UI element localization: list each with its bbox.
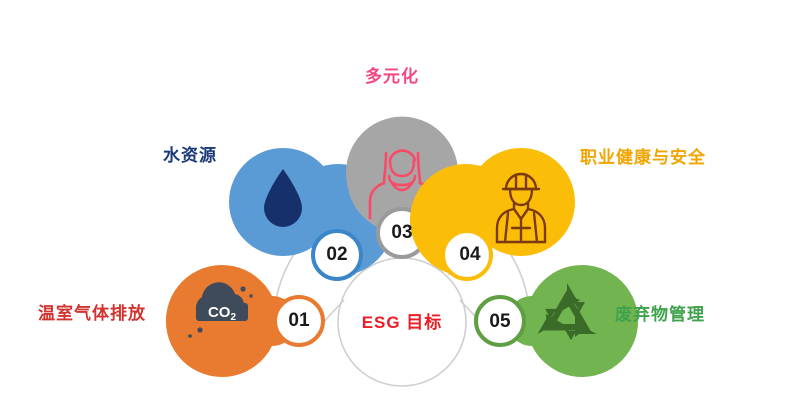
badge-02-number: 02 — [310, 244, 364, 266]
center-label: ESG 目标 — [352, 308, 452, 333]
badge-01-number: 01 — [272, 310, 326, 332]
infographic-canvas: CO2 — [0, 0, 803, 402]
label-waste-management: 废弃物管理 — [615, 300, 705, 325]
badge-03-number: 03 — [375, 222, 429, 244]
label-water: 水资源 — [163, 141, 217, 166]
badge-05-number: 05 — [473, 311, 527, 333]
label-occupational-health-safety: 职业健康与安全 — [580, 143, 706, 168]
label-diversity: 多元化 — [365, 62, 419, 87]
badge-04-number: 04 — [443, 244, 497, 266]
label-ghg: 温室气体排放 — [38, 299, 146, 324]
